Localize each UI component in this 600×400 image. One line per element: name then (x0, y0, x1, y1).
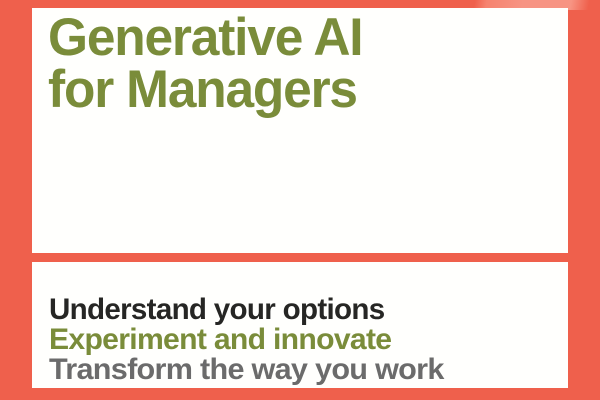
poster-canvas: Generative AI for Managers Understand yo… (0, 0, 600, 400)
subtitle-card: Understand your options Experiment and i… (32, 262, 568, 388)
title-line-1: Generative AI (48, 12, 552, 64)
subtitle-line-understand: Understand your options (49, 295, 561, 325)
subtitle-line-experiment: Experiment and innovate (49, 325, 572, 355)
title-line-2: for Managers (48, 64, 552, 116)
title-card: Generative AI for Managers (32, 8, 568, 253)
subtitle-line-transform: Transform the way you work (49, 355, 579, 385)
subtitle-block: Understand your options Experiment and i… (49, 295, 569, 385)
title-block: Generative AI for Managers (48, 12, 568, 116)
